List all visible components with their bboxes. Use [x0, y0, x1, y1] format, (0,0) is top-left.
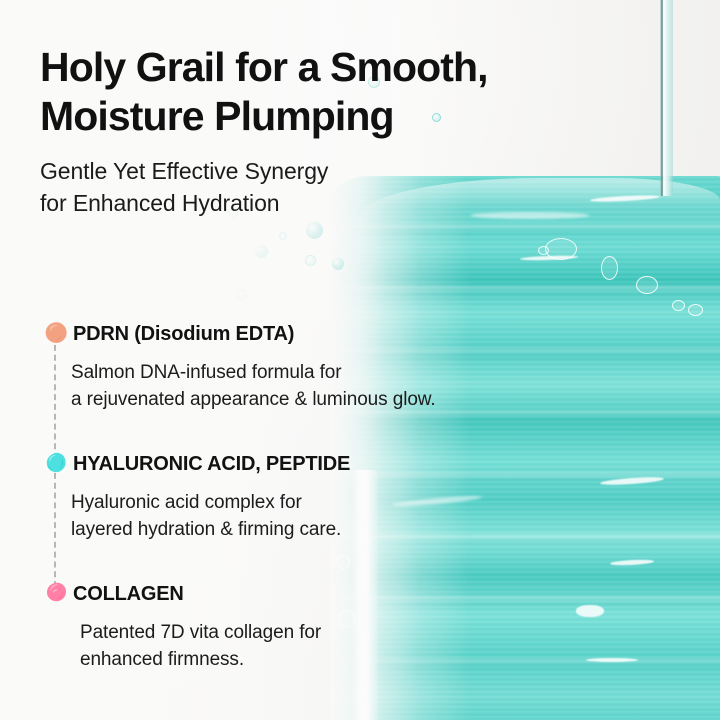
page-title: Holy Grail for a Smooth, Moisture Plumpi…: [40, 43, 600, 141]
hyaluronic-blob-icon: [40, 450, 70, 480]
ingredient-description-line-1: Patented 7D vita collagen for: [80, 619, 520, 646]
ingredient-description-line-2: a rejuvenated appearance & luminous glow…: [71, 386, 520, 413]
headline-line-2: Moisture Plumping: [40, 92, 600, 141]
ingredient-description: Patented 7D vita collagen for enhanced f…: [80, 619, 520, 673]
ingredient-header: HYALURONIC ACID, PEPTIDE: [40, 450, 520, 480]
list-item: HYALURONIC ACID, PEPTIDE Hyaluronic acid…: [40, 450, 520, 543]
page-subtitle: Gentle Yet Effective Synergy for Enhance…: [40, 155, 460, 219]
product-feature-graphic: Holy Grail for a Smooth, Moisture Plumpi…: [0, 0, 720, 720]
ingredient-description-line-1: Hyaluronic acid complex for: [71, 489, 520, 516]
ingredient-description-line-2: enhanced firmness.: [80, 646, 520, 673]
collagen-blob-icon: [40, 580, 70, 610]
subheadline-line-1: Gentle Yet Effective Synergy: [40, 155, 460, 187]
pdrn-blob-icon: [40, 320, 70, 350]
list-item: COLLAGEN Patented 7D vita collagen for e…: [40, 580, 520, 673]
ingredient-title: PDRN (Disodium EDTA): [73, 323, 294, 346]
list-item: PDRN (Disodium EDTA) Salmon DNA-infused …: [40, 320, 520, 413]
ingredient-header: COLLAGEN: [40, 580, 520, 610]
ingredient-description-line-2: layered hydration & firming care.: [71, 516, 520, 543]
ingredient-description: Hyaluronic acid complex for layered hydr…: [71, 489, 520, 543]
ingredient-description: Salmon DNA-infused formula for a rejuven…: [71, 359, 520, 413]
ingredient-title: HYALURONIC ACID, PEPTIDE: [73, 453, 350, 476]
subheadline-line-2: for Enhanced Hydration: [40, 187, 460, 219]
ingredient-description-line-1: Salmon DNA-infused formula for: [71, 359, 520, 386]
ingredient-title: COLLAGEN: [73, 583, 184, 606]
headline-line-1: Holy Grail for a Smooth,: [40, 43, 600, 92]
ingredient-header: PDRN (Disodium EDTA): [40, 320, 520, 350]
